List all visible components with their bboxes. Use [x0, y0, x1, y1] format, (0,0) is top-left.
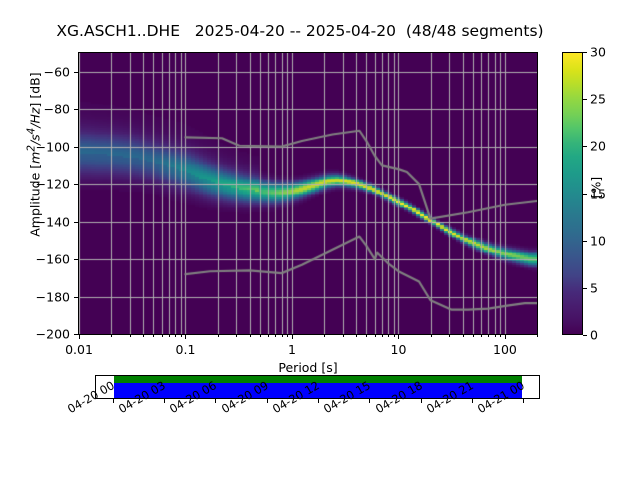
colorbar-tick-label: 5	[590, 280, 598, 295]
x-tick-minor	[343, 335, 344, 337]
ppsd-plot-area	[78, 52, 538, 335]
x-tick-minor	[268, 335, 269, 337]
x-tick-minor	[495, 335, 496, 337]
x-tick-minor	[282, 335, 283, 337]
y-tick-mark	[74, 259, 78, 260]
x-tick-minor	[500, 335, 501, 337]
x-tick-minor	[375, 335, 376, 337]
y-tick-label: −120	[0, 177, 70, 192]
y-tick-label: −80	[0, 102, 70, 117]
x-tick-minor	[153, 335, 154, 337]
colorbar-tick-mark	[583, 146, 587, 147]
colorbar-tick-label: 25	[590, 92, 606, 107]
x-tick-minor	[169, 335, 170, 337]
colorbar	[562, 52, 583, 335]
x-tick-minor	[366, 335, 367, 337]
colorbar-tick-mark	[583, 241, 587, 242]
x-tick-minor	[181, 335, 182, 337]
timeline-tick-mark	[318, 399, 319, 403]
timeline-tick-mark	[113, 399, 114, 403]
timeline-tick-mark	[523, 399, 524, 403]
x-tick-mark	[398, 335, 399, 339]
timeline-tick-mark	[267, 399, 268, 403]
timeline-tick-mark	[472, 399, 473, 403]
y-tick-label: −180	[0, 289, 70, 304]
x-axis-label: Period [s]	[78, 360, 538, 375]
timeline-tick-mark	[421, 399, 422, 403]
colorbar-tick-mark	[583, 335, 587, 336]
y-tick-label: −140	[0, 214, 70, 229]
timeline-tick-mark	[215, 399, 216, 403]
x-tick-minor	[275, 335, 276, 337]
x-tick-minor	[537, 335, 538, 337]
y-tick-mark	[74, 72, 78, 73]
x-tick-minor	[481, 335, 482, 337]
x-tick-minor	[394, 335, 395, 337]
x-tick-minor	[162, 335, 163, 337]
colorbar-label: [%]	[589, 158, 604, 218]
x-tick-minor	[356, 335, 357, 337]
x-tick-minor	[449, 335, 450, 337]
x-tick-minor	[382, 335, 383, 337]
x-tick-minor	[111, 335, 112, 337]
x-tick-label: 0.1	[176, 342, 196, 357]
page-title: XG.ASCH1..DHE 2025-04-20 -- 2025-04-20 (…	[0, 22, 600, 40]
timeline-tick-mark	[164, 399, 165, 403]
noise-model-curves	[79, 53, 537, 334]
colorbar-tick-mark	[583, 52, 587, 53]
y-tick-label: −160	[0, 252, 70, 267]
x-tick-minor	[287, 335, 288, 337]
x-tick-mark	[79, 335, 80, 339]
x-tick-label: 0.01	[65, 342, 93, 357]
y-tick-mark	[74, 222, 78, 223]
x-tick-minor	[260, 335, 261, 337]
x-tick-label: 100	[493, 342, 517, 357]
y-tick-label: −60	[0, 64, 70, 79]
x-tick-mark	[505, 335, 506, 339]
y-tick-mark	[74, 297, 78, 298]
y-tick-label: −100	[0, 139, 70, 154]
colorbar-tick-label: 20	[590, 139, 606, 154]
x-tick-minor	[143, 335, 144, 337]
x-tick-minor	[218, 335, 219, 337]
colorbar-tick-mark	[583, 194, 587, 195]
x-tick-minor	[236, 335, 237, 337]
y-tick-mark	[74, 147, 78, 148]
x-tick-minor	[388, 335, 389, 337]
timeline-tick-mark	[369, 399, 370, 403]
y-tick-mark	[74, 109, 78, 110]
x-tick-minor	[488, 335, 489, 337]
colorbar-tick-label: 10	[590, 233, 606, 248]
x-tick-minor	[463, 335, 464, 337]
colorbar-tick-mark	[583, 288, 587, 289]
x-tick-minor	[473, 335, 474, 337]
x-tick-minor	[324, 335, 325, 337]
colorbar-tick-label: 0	[590, 328, 598, 343]
colorbar-tick-mark	[583, 99, 587, 100]
x-tick-label: 1	[288, 342, 296, 357]
x-tick-label: 10	[391, 342, 407, 357]
y-tick-mark	[74, 184, 78, 185]
ppsd-figure: XG.ASCH1..DHE 2025-04-20 -- 2025-04-20 (…	[0, 0, 640, 480]
x-tick-minor	[250, 335, 251, 337]
y-tick-label: −200	[0, 327, 70, 342]
x-tick-minor	[130, 335, 131, 337]
y-tick-mark	[74, 334, 78, 335]
x-tick-minor	[431, 335, 432, 337]
x-tick-mark	[292, 335, 293, 339]
colorbar-tick-label: 30	[590, 45, 606, 60]
x-tick-minor	[175, 335, 176, 337]
x-tick-mark	[185, 335, 186, 339]
